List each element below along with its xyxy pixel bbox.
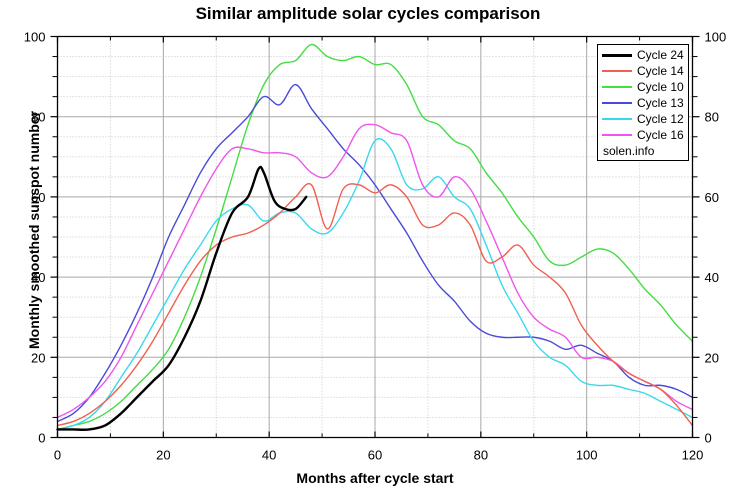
legend-item-cycle-10[interactable]: Cycle 10 [598,79,688,95]
chart-legend[interactable]: Cycle 24Cycle 14Cycle 10Cycle 13Cycle 12… [597,44,689,161]
y-tick-label-right: 100 [705,30,727,45]
y-tick-label-left: 0 [38,431,45,446]
y-tick-label-left: 60 [31,190,45,205]
legend-item-label: Cycle 12 [637,111,684,127]
x-axis-label: Months after cycle start [57,470,693,486]
x-tick-label: 80 [474,448,488,463]
legend-item-cycle-13[interactable]: Cycle 13 [598,95,688,111]
y-tick-label-left: 40 [31,270,45,285]
y-tick-label-right: 20 [705,350,719,365]
legend-item-label: Cycle 14 [637,63,684,79]
y-tick-label-right: 40 [705,270,719,285]
y-tick-label-left: 20 [31,350,45,365]
legend-color-swatch [602,102,632,104]
legend-item-label: Cycle 13 [637,95,684,111]
legend-item-cycle-12[interactable]: Cycle 12 [598,111,688,127]
legend-item-cycle-14[interactable]: Cycle 14 [598,63,688,79]
y-tick-label-right: 0 [705,431,712,446]
legend-item-label: Cycle 16 [637,127,684,143]
y-tick-label-left: 80 [31,110,45,125]
x-tick-label: 120 [682,448,704,463]
legend-color-swatch [602,134,632,136]
legend-item-cycle-24[interactable]: Cycle 24 [598,47,688,63]
x-tick-label: 60 [368,448,382,463]
chart-container: Similar amplitude solar cycles compariso… [0,0,736,498]
legend-color-swatch [602,54,632,57]
y-tick-label-right: 60 [705,190,719,205]
x-tick-label: 100 [576,448,598,463]
legend-color-swatch [602,118,632,120]
legend-item-cycle-16[interactable]: Cycle 16 [598,127,688,143]
y-tick-label-right: 80 [705,110,719,125]
legend-color-swatch [602,86,632,88]
x-tick-label: 20 [156,448,170,463]
legend-color-swatch [602,70,632,72]
x-tick-label: 0 [54,448,61,463]
x-tick-label: 40 [262,448,276,463]
legend-entries: Cycle 24Cycle 14Cycle 10Cycle 13Cycle 12… [598,47,688,143]
legend-item-label: Cycle 24 [637,47,684,63]
legend-credit: solen.info [598,143,688,159]
y-tick-label-left: 100 [24,30,46,45]
legend-item-label: Cycle 10 [637,79,684,95]
